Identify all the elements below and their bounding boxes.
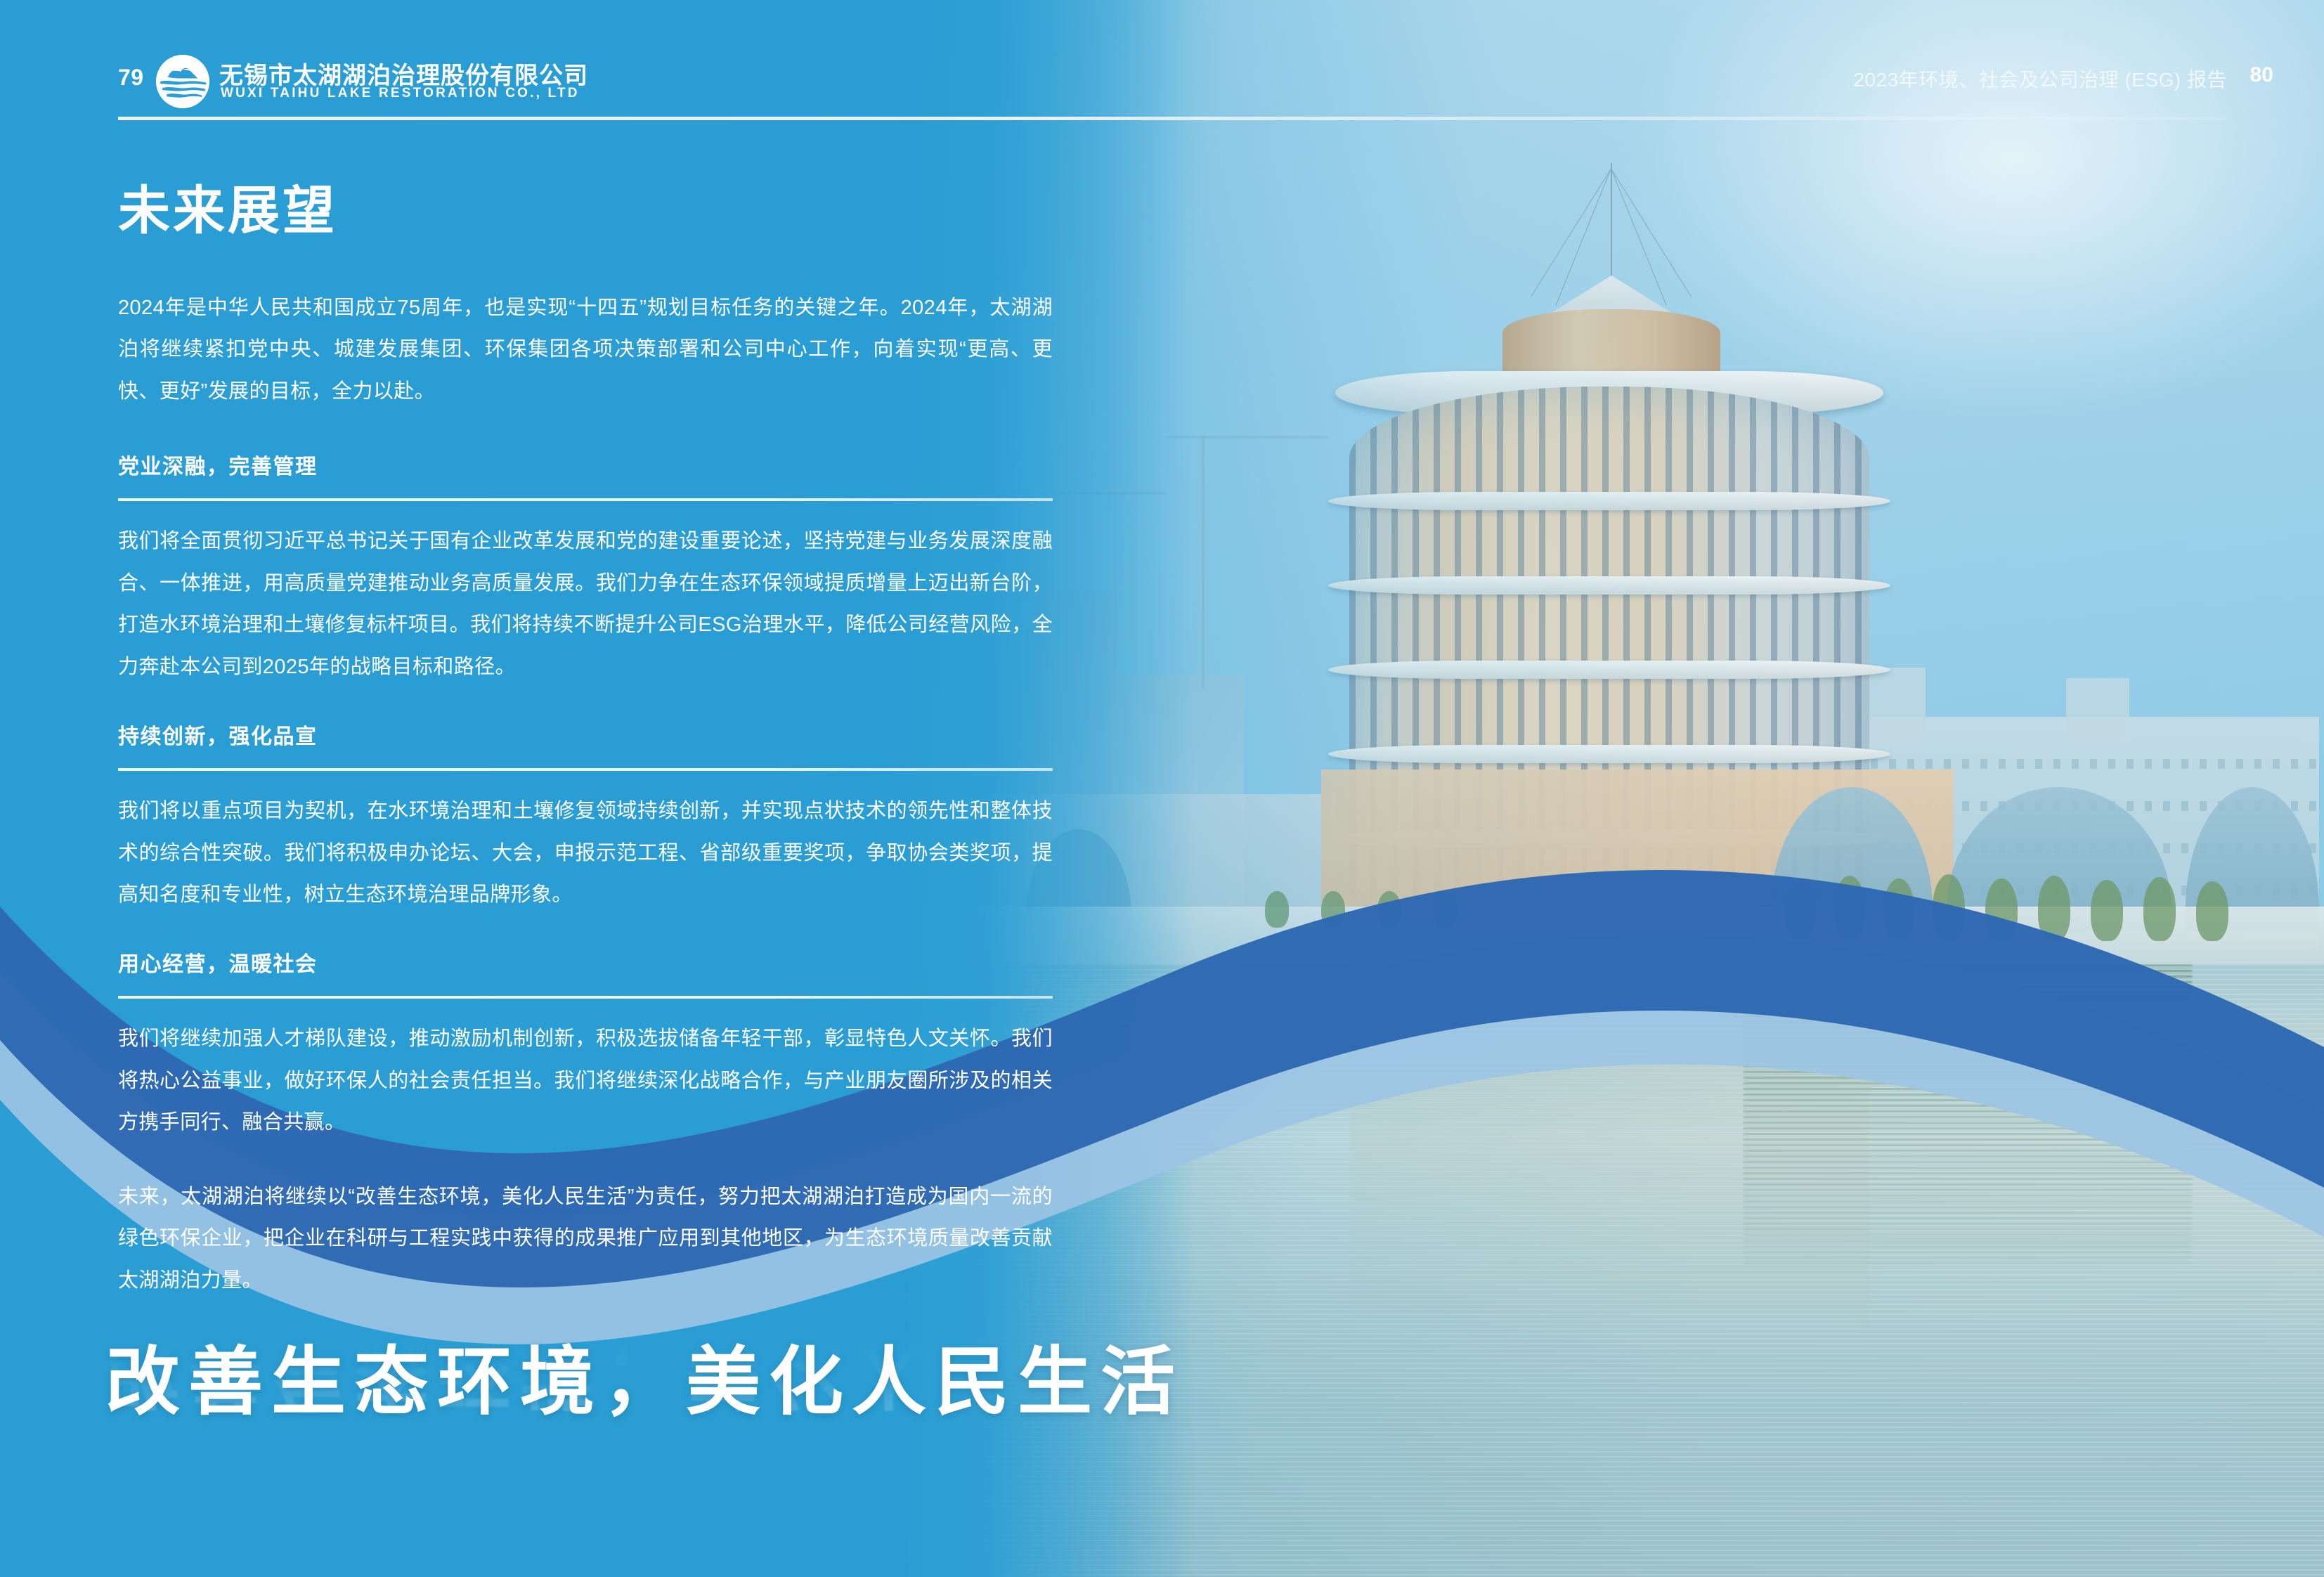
closing-paragraph: 未来，太湖湖泊将继续以“改善生态环境，美化人民生活”为责任，努力把太湖湖泊打造成… [118, 1176, 1053, 1302]
slogan-reflection: 改善生态环境，美化人民生活 [105, 1325, 949, 1434]
page-number-left: 79 [118, 65, 144, 91]
section-body: 我们将以重点项目为契机，在水环境治理和土壤修复领域持续创新，并实现点状技术的领先… [118, 791, 1053, 916]
taihu-lake-birds-logo-icon [156, 55, 209, 108]
company-logo [156, 55, 209, 108]
brand-name-en: WUXI TAIHU LAKE RESTORATION CO., LTD [221, 86, 580, 101]
page-content: 未来展望 2024年是中华人民共和国成立75周年，也是实现“十四五”规划目标任务… [118, 169, 1053, 1302]
section-divider [118, 996, 1053, 999]
page-title: 未来展望 [118, 169, 1053, 244]
section-social-warmth: 用心经营，温暖社会 我们将继续加强人才梯队建设，推动激励机制创新，积极选拔储备年… [118, 947, 1053, 1143]
page-header: 79 无锡市太湖湖泊治理股份有限公司 WUXI TAIHU LAKE RESTO… [0, 0, 2324, 134]
intro-paragraph: 2024年是中华人民共和国成立75周年，也是实现“十四五”规划目标任务的关键之年… [118, 287, 1053, 413]
section-heading: 持续创新，强化品宣 [118, 719, 1053, 750]
header-divider [118, 117, 2226, 120]
section-heading: 党业深融，完善管理 [118, 449, 1053, 480]
section-body: 我们将继续加强人才梯队建设，推动激励机制创新，积极选拔储备年轻干部，彰显特色人文… [118, 1018, 1053, 1143]
logo-glyph [156, 55, 209, 108]
page-number-right: 80 [2250, 63, 2273, 87]
section-heading: 用心经营，温暖社会 [118, 947, 1053, 978]
esg-report-page: 79 无锡市太湖湖泊治理股份有限公司 WUXI TAIHU LAKE RESTO… [0, 0, 2324, 1577]
section-divider [118, 498, 1053, 501]
section-divider [118, 768, 1053, 771]
section-body: 我们将全面贯彻习近平总书记关于国有企业改革发展和党的建设重要论述，坚持党建与业务… [118, 521, 1053, 688]
report-title: 2023年环境、社会及公司治理 (ESG) 报告 [1853, 65, 2227, 93]
slogan-block: 改善生态环境，美化人民生活 改善生态环境，美化人民生活 [105, 1321, 949, 1542]
section-party-management: 党业深融，完善管理 我们将全面贯彻习近平总书记关于国有企业改革发展和党的建设重要… [118, 449, 1053, 688]
section-innovation-branding: 持续创新，强化品宣 我们将以重点项目为契机，在水环境治理和土壤修复领域持续创新，… [118, 719, 1053, 916]
